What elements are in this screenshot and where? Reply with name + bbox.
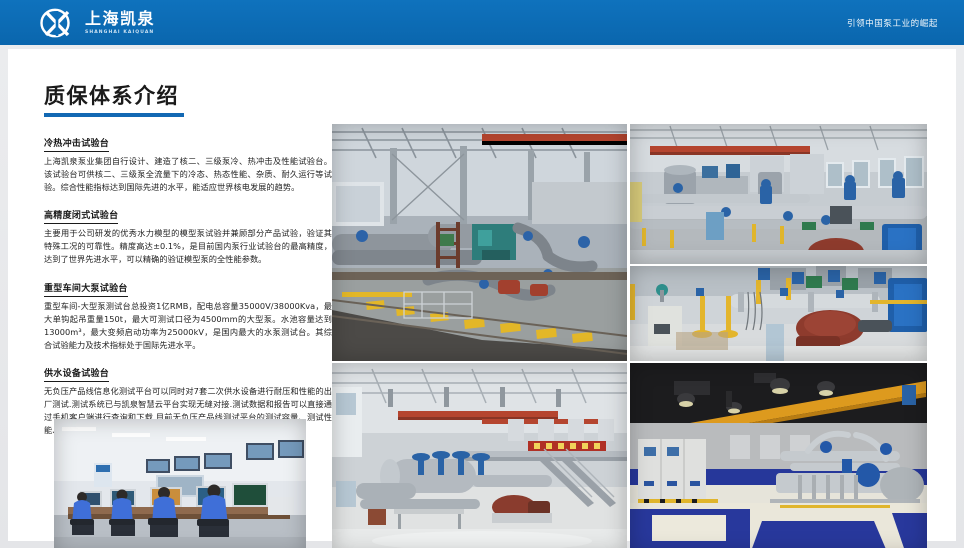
control-room-image (54, 419, 306, 548)
section-heading: 重型车间大泵试验台 (44, 283, 128, 297)
section-list: 冷热冲击试验台 上海凯泉泵业集团自行设计、建造了核二、三级泵冷、热冲击及性能试验… (44, 131, 332, 437)
title-underline (44, 113, 184, 117)
header-tagline: 引领中国泵工业的崛起 (847, 17, 964, 29)
slide-page: 上海凯泉 SHANGHAI KAIQUAN 引领中国泵工业的崛起 质保体系介绍 … (0, 0, 964, 548)
section-body: 重型车间-大型泵测试台总投资1亿RMB，配电总容量35000V/38000Kva… (44, 300, 332, 352)
photo-water-supply-lab (630, 363, 927, 548)
pump-test-bench-image (630, 266, 927, 361)
section-body: 上海凯泉泵业集团自行设计、建造了核二、三级泵冷、热冲击及性能试验台。该试验台可供… (44, 155, 332, 194)
water-supply-lab-image (630, 363, 927, 548)
section-item: 高精度闭式试验台 主要用于公司研发的优秀水力模型的模型泵试验并兼顾部分产品试验，… (44, 203, 332, 266)
brand-name-cn: 上海凯泉 (85, 10, 155, 28)
photo-control-room (54, 419, 306, 548)
section-item: 重型车间大泵试验台 重型车间-大型泵测试台总投资1亿RMB，配电总容量35000… (44, 276, 332, 352)
heavy-workshop-image (332, 363, 627, 548)
section-heading: 高精度闭式试验台 (44, 210, 118, 224)
brand-logo[interactable]: 上海凯泉 SHANGHAI KAIQUAN (0, 8, 155, 38)
section-heading: 冷热冲击试验台 (44, 138, 109, 152)
section-heading: 供水设备试验台 (44, 368, 109, 382)
text-column: 质保体系介绍 冷热冲击试验台 上海凯泉泵业集团自行设计、建造了核二、三级泵冷、热… (44, 83, 332, 446)
page-title: 质保体系介绍 (44, 83, 332, 109)
section-item: 冷热冲击试验台 上海凯泉泵业集团自行设计、建造了核二、三级泵冷、热冲击及性能试验… (44, 131, 332, 194)
section-body: 主要用于公司研发的优秀水力模型的模型泵试验并兼顾部分产品试验，验证其特殊工况的可… (44, 227, 332, 266)
test-hall-piping-image (332, 124, 627, 361)
closed-test-rig-image (630, 124, 927, 264)
photo-heavy-workshop (332, 363, 627, 548)
photo-pump-test-bench (630, 266, 927, 361)
brand-name-en: SHANGHAI KAIQUAN (85, 29, 155, 36)
page-header: 上海凯泉 SHANGHAI KAIQUAN 引领中国泵工业的崛起 (0, 0, 964, 45)
photo-test-hall-piping (332, 124, 627, 361)
content-sheet: 质保体系介绍 冷热冲击试验台 上海凯泉泵业集团自行设计、建造了核二、三级泵冷、热… (8, 49, 956, 541)
kaiquan-monogram-icon (38, 8, 78, 38)
photo-closed-test-rig (630, 124, 927, 264)
slide-body: 质保体系介绍 冷热冲击试验台 上海凯泉泵业集团自行设计、建造了核二、三级泵冷、热… (0, 45, 964, 548)
